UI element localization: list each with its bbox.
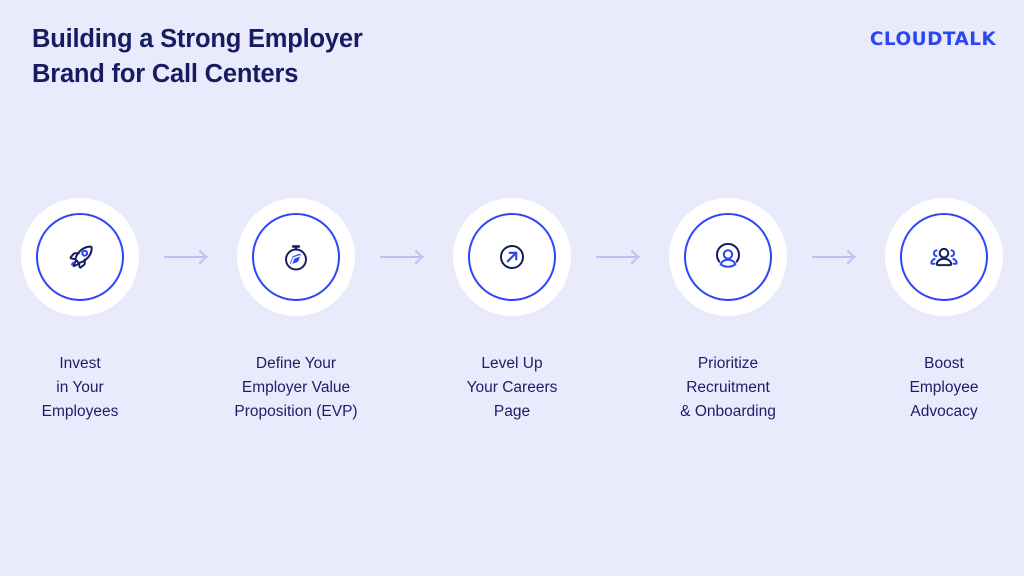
arrow-up-right-circle-icon (492, 237, 532, 277)
arrow-right-icon (812, 249, 860, 265)
flow-step-define-your-evp[interactable]: Define Your Employer Value Proposition (… (216, 198, 376, 424)
icon-halo (669, 198, 787, 316)
cloudtalk-logo: CLOUDTALK (870, 28, 996, 50)
flow-step-invest-in-your-employees[interactable]: Invest in Your Employees (0, 198, 160, 424)
stopwatch-compass-icon (276, 237, 316, 277)
flow-step-label: Prioritize Recruitment & Onboarding (680, 352, 776, 424)
icon-halo (237, 198, 355, 316)
flow-connector-1 (160, 198, 216, 316)
icon-halo (885, 198, 1003, 316)
flow-step-label: Invest in Your Employees (42, 352, 119, 424)
icon-ring (684, 213, 772, 301)
arrow-right-icon (380, 249, 428, 265)
icon-halo (453, 198, 571, 316)
icon-ring (468, 213, 556, 301)
flow-step-label: Define Your Employer Value Proposition (… (234, 352, 357, 424)
user-avatar-icon (708, 237, 748, 277)
flow-connector-4 (808, 198, 864, 316)
icon-ring (36, 213, 124, 301)
rocket-icon (60, 237, 100, 277)
flow-step-prioritize-recruitment[interactable]: Prioritize Recruitment & Onboarding (648, 198, 808, 424)
flow-step-boost-employee-advocacy[interactable]: Boost Employee Advocacy (864, 198, 1024, 424)
people-group-icon (923, 237, 965, 277)
slide-canvas: Building a Strong Employer Brand for Cal… (0, 0, 1024, 576)
page-title: Building a Strong Employer Brand for Cal… (32, 22, 363, 92)
process-flow: Invest in Your Employees (0, 198, 1024, 424)
flow-connector-3 (592, 198, 648, 316)
flow-step-label: Level Up Your Careers Page (467, 352, 558, 424)
icon-halo (21, 198, 139, 316)
flow-connector-2 (376, 198, 432, 316)
icon-ring (900, 213, 988, 301)
arrow-right-icon (596, 249, 644, 265)
arrow-right-icon (164, 249, 212, 265)
icon-ring (252, 213, 340, 301)
flow-step-level-up-careers-page[interactable]: Level Up Your Careers Page (432, 198, 592, 424)
flow-step-label: Boost Employee Advocacy (910, 352, 979, 424)
